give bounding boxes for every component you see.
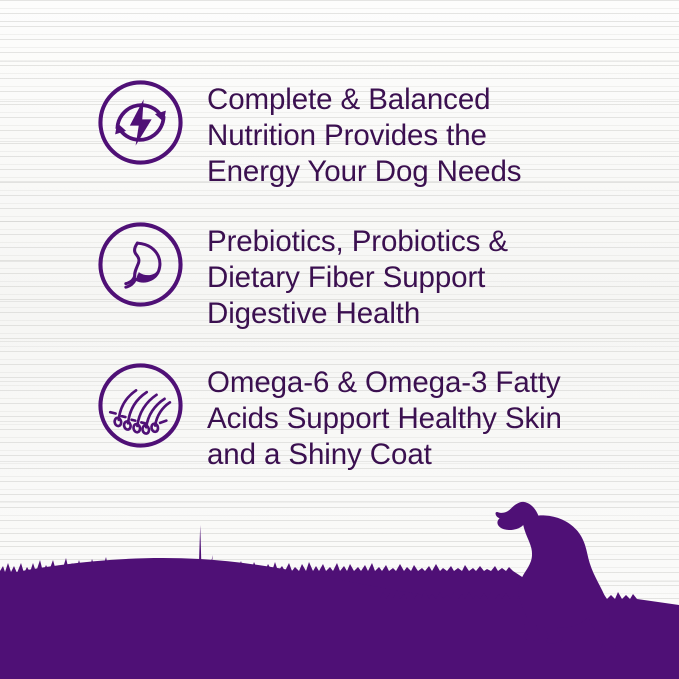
energy-cycle-icon [96, 78, 185, 167]
benefit-text: Complete & Balanced Nutrition Provides t… [207, 82, 679, 190]
hair-follicle-icon [96, 361, 185, 450]
benefit-icon-wrapper [96, 361, 196, 450]
benefit-text: Prebiotics, Probiotics & Dietary Fiber S… [207, 224, 679, 332]
benefit-row: Omega-6 & Omega-3 Fatty Acids Support He… [0, 361, 679, 473]
benefit-icon-wrapper [96, 78, 196, 167]
benefit-icon-wrapper [96, 220, 196, 309]
benefits-panel: Complete & Balanced Nutrition Provides t… [0, 0, 679, 679]
benefit-text: Omega-6 & Omega-3 Fatty Acids Support He… [207, 365, 679, 473]
benefit-row: Prebiotics, Probiotics & Dietary Fiber S… [0, 220, 679, 332]
benefit-row: Complete & Balanced Nutrition Provides t… [0, 78, 679, 190]
stomach-icon [96, 220, 185, 309]
bottom-scene [0, 479, 679, 679]
